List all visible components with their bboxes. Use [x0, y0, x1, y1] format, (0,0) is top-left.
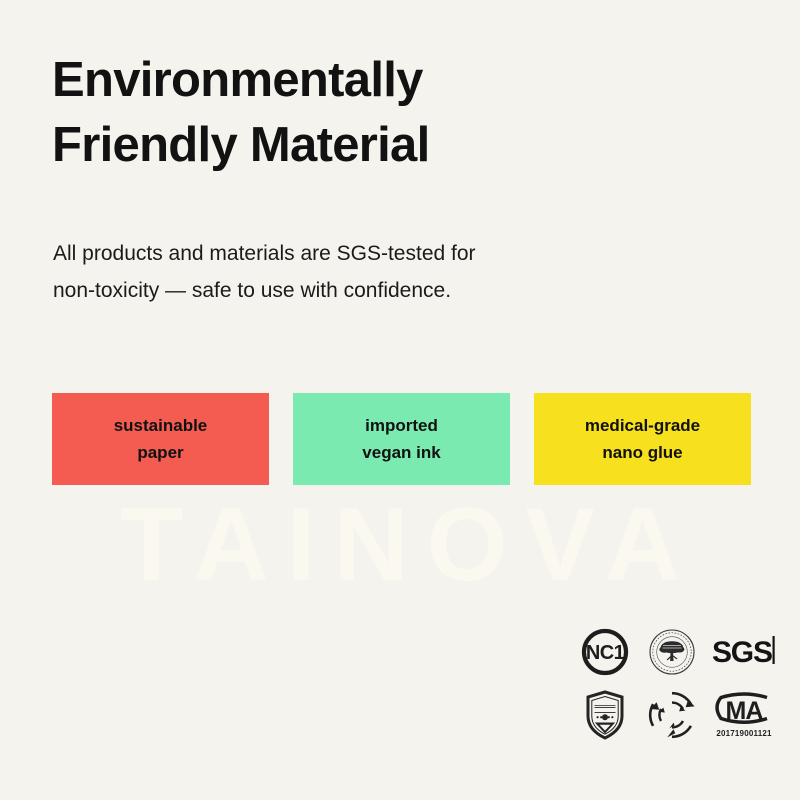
material-badge-group: sustainable paper imported vegan ink med… — [52, 393, 751, 485]
svg-text:NC1: NC1 — [586, 642, 625, 664]
cma-number: 201719001121 — [716, 729, 772, 738]
badge-medical-grade-nano-glue-line-1: medical-grade — [585, 415, 700, 436]
badge-sustainable-paper-line-1: sustainable — [114, 415, 208, 436]
page-title: Environmentally Friendly Material — [52, 48, 672, 178]
badge-imported-vegan-ink-line-1: imported — [365, 415, 438, 436]
recycle-icon — [642, 685, 704, 744]
description-text: All products and materials are SGS-teste… — [53, 235, 653, 310]
svg-text:MA: MA — [726, 697, 764, 725]
forest-tree-seal-icon — [642, 622, 704, 681]
description-line-1: All products and materials are SGS-teste… — [53, 235, 653, 272]
badge-medical-grade-nano-glue-line-2: nano glue — [602, 442, 682, 463]
cma-icon: MA 201719001121 — [709, 685, 779, 744]
page-title-line-2: Friendly Material — [52, 113, 672, 178]
badge-sustainable-paper: sustainable paper — [52, 393, 269, 485]
badge-sustainable-paper-line-2: paper — [137, 442, 183, 463]
certification-logo-grid: NC1 — [574, 622, 779, 744]
sgs-icon: SGS — [709, 622, 779, 681]
brand-watermark: TAINOVA — [0, 493, 800, 597]
badge-imported-vegan-ink: imported vegan ink — [293, 393, 510, 485]
svg-text:SGS: SGS — [712, 636, 772, 669]
badge-medical-grade-nano-glue: medical-grade nano glue — [534, 393, 751, 485]
page-title-line-1: Environmentally — [52, 48, 672, 113]
description-line-2: non-toxicity — safe to use with confiden… — [53, 272, 653, 309]
badge-imported-vegan-ink-line-2: vegan ink — [362, 442, 440, 463]
nc1-icon: NC1 — [574, 622, 636, 681]
poster-canvas: TAINOVA Environmentally Friendly Materia… — [0, 0, 800, 800]
shield-quality-icon — [574, 685, 636, 744]
